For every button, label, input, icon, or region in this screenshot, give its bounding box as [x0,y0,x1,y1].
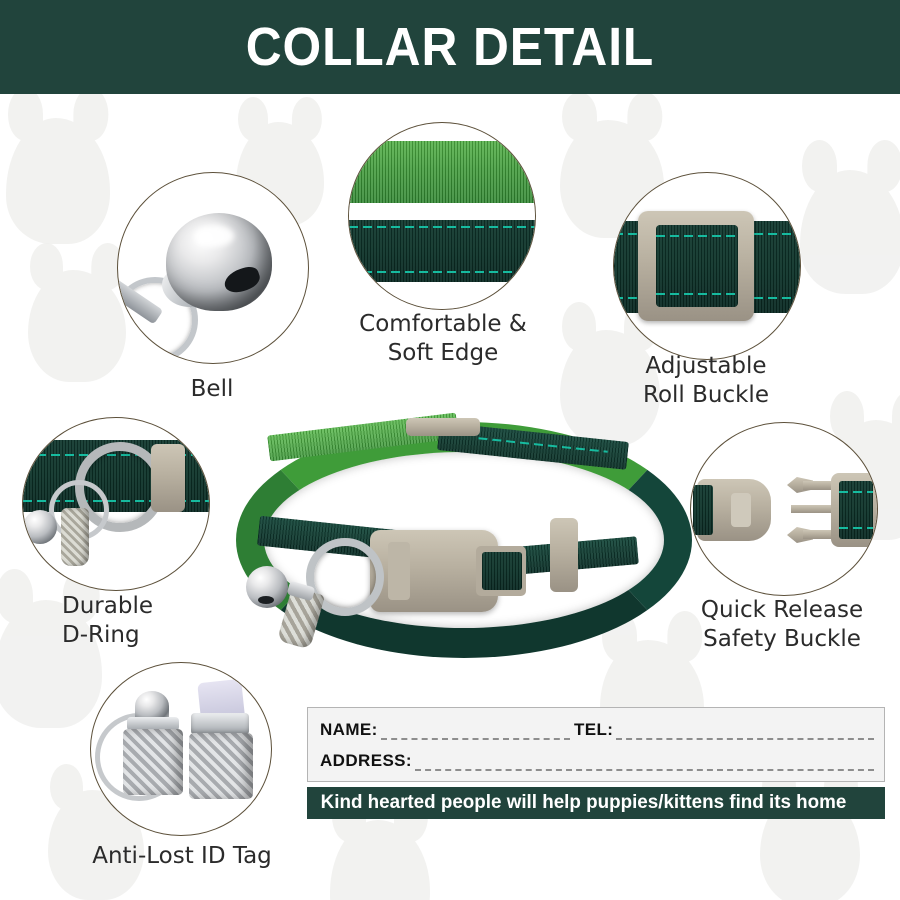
stitch-window-top [656,235,738,237]
watermark-cat-silhouette [28,270,126,382]
caption-bell: Bell [117,375,307,404]
stitch-line-top [349,226,535,228]
address-field-label: ADDRESS: [320,751,412,771]
caption-id-tag: Anti-Lost ID Tag [62,842,302,871]
callout-circle-roll-buckle [613,172,801,360]
buckle-female-webbing [693,485,713,535]
kind-hearted-banner: Kind hearted people will help puppies/ki… [307,787,885,819]
address-field-input[interactable] [415,758,874,771]
main-product-image [228,418,653,670]
callout-circle-id-tag [90,662,272,836]
bell-highlight [194,225,234,247]
webbing-light-band [349,141,535,203]
name-field-row[interactable]: NAME: [320,720,570,740]
caption-soft-edge: Comfortable & Soft Edge [318,310,568,368]
caption-roll-buckle: Adjustable Roll Buckle [608,352,804,410]
webbing-closeup-image [349,123,535,309]
webbing-white-gap [349,203,535,220]
buckle-left-slot [388,542,410,600]
buckle-male-webbing [839,481,873,539]
id-tag-image [91,663,271,835]
caption-quick-release: Quick Release Safety Buckle [676,596,888,654]
top-keeper [406,418,480,436]
tel-field-row[interactable]: TEL: [574,720,874,740]
stitch-male-bottom [839,527,873,529]
slider-keeper [550,518,578,592]
tel-field-label: TEL: [574,720,613,740]
name-field-input[interactable] [381,727,570,740]
callout-circle-bell [117,172,309,364]
page-title: COLLAR DETAIL [246,16,654,78]
callout-circle-quick-release [690,422,878,596]
capsule-body-right [189,733,253,799]
stitch-window-bottom [656,293,738,295]
buckle-female-waist [731,493,751,527]
watermark-dog-silhouette [6,118,110,244]
d-ring-image [23,418,209,590]
bell-image [118,173,308,363]
stitch-line-bottom [349,271,535,273]
name-field-label: NAME: [320,720,378,740]
stitch-male-top [839,491,873,493]
jingle-bell [23,510,57,544]
webbing-lower-gap [349,282,535,309]
callout-circle-d-ring [22,417,210,591]
slider-keeper [151,444,185,512]
infographic-page: COLLAR DETAIL Bell Comforta [0,0,900,900]
kind-hearted-banner-text: Kind hearted people will help puppies/ki… [321,792,847,814]
tel-field-input[interactable] [616,727,874,740]
bell-slit [258,596,274,604]
callout-circle-soft-edge [348,122,536,310]
id-info-card: NAME: TEL: ADDRESS: [307,707,885,782]
buckle-window-webbing [482,552,522,590]
roll-buckle-image [614,173,800,359]
id-capsule [61,508,89,566]
address-field-row[interactable]: ADDRESS: [320,751,874,771]
capsule-thread-right [191,713,249,735]
watermark-dog-silhouette [800,170,900,294]
header-banner: COLLAR DETAIL [0,0,900,94]
capsule-body-left [123,729,183,795]
quick-release-buckle-image [691,423,877,595]
watermark-dog-silhouette [330,820,430,900]
